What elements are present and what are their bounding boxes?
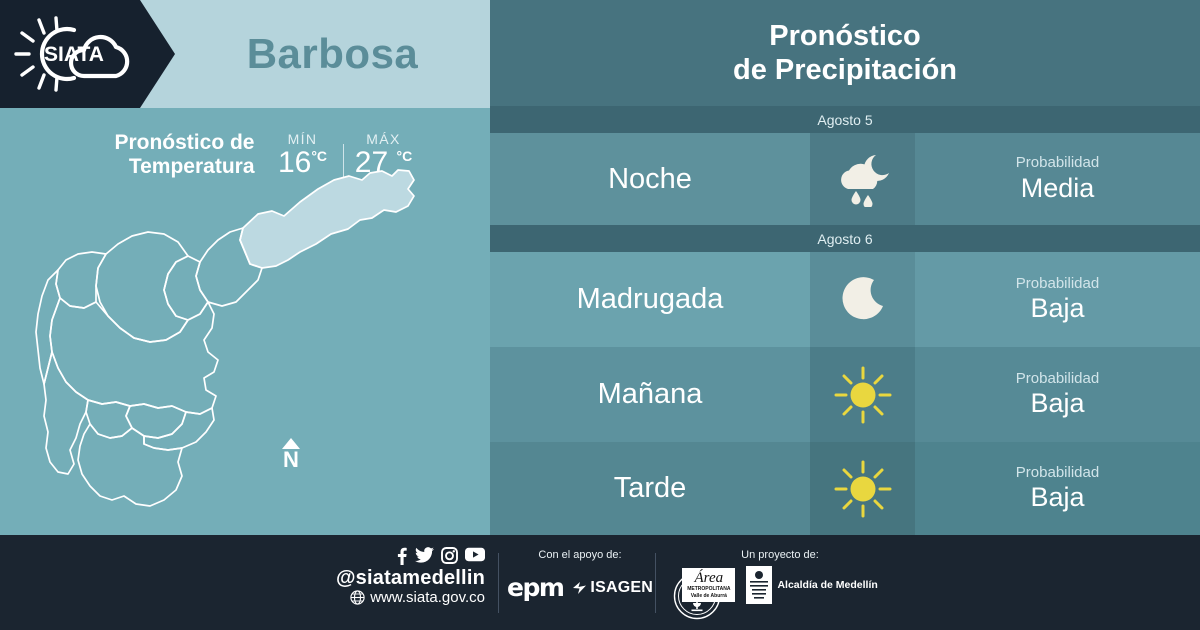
forecast-probability-noche: Probabilidad Media bbox=[915, 133, 1200, 225]
support-logos: epm ISAGEN bbox=[505, 573, 655, 602]
probability-value-tarde: Baja bbox=[1030, 482, 1084, 513]
forecast-title-line2: de Precipitación bbox=[733, 53, 957, 87]
area-logo-sub1: METROPOLITANA bbox=[687, 587, 730, 593]
globe-icon bbox=[350, 590, 365, 605]
alcaldia-label: Alcaldía de Medellín bbox=[777, 579, 877, 591]
moon-cloud-rain-icon bbox=[832, 151, 894, 207]
area-logo-main: Área bbox=[687, 571, 730, 586]
project-caption: Un proyecto de: bbox=[665, 549, 895, 561]
date-band-agosto-6: Agosto 6 bbox=[490, 225, 1200, 252]
map-region-northwest-edge bbox=[56, 252, 106, 308]
map-region-sabaneta bbox=[144, 408, 214, 450]
probability-caption: Probabilidad bbox=[1016, 370, 1099, 389]
forecast-period-manana: Mañana bbox=[490, 347, 810, 442]
siata-logo-text: SIATA bbox=[44, 43, 104, 66]
area-logo-sub2: Valle de Aburrá bbox=[687, 594, 730, 600]
forecast-probability-madrugada: Probabilidad Baja bbox=[915, 252, 1200, 347]
sun-cloud-icon: SIATA bbox=[12, 14, 130, 94]
map-region-itagui bbox=[86, 400, 132, 438]
isagen-logo: ISAGEN bbox=[572, 579, 653, 597]
probability-value-noche: Media bbox=[1021, 173, 1095, 204]
page-title: Barbosa bbox=[175, 0, 490, 108]
support-caption: Con el apoyo de: bbox=[505, 549, 655, 561]
footer: @siatamedellin www.siata.gov.co Con el a… bbox=[0, 535, 1200, 630]
forecast-icon-cell-noche bbox=[810, 133, 915, 225]
weather-forecast-infographic: Barbosa SIATA Pronóst bbox=[0, 0, 1200, 630]
temperature-min-label: MÍN bbox=[269, 131, 337, 147]
instagram-icon[interactable] bbox=[441, 547, 458, 564]
forecast-title: Pronóstico de Precipitación bbox=[490, 0, 1200, 106]
probability-caption: Probabilidad bbox=[1016, 154, 1099, 173]
forecast-icon-cell-manana bbox=[810, 347, 915, 442]
social-handle[interactable]: @siatamedellin bbox=[300, 567, 485, 589]
moon-icon bbox=[838, 275, 888, 325]
probability-value-madrugada: Baja bbox=[1030, 293, 1084, 324]
epm-logo: epm bbox=[507, 573, 563, 602]
social-block: @siatamedellin www.siata.gov.co bbox=[300, 547, 485, 606]
website-link[interactable]: www.siata.gov.co bbox=[300, 589, 485, 606]
forecast-row-manana[interactable]: Mañana Probabili bbox=[490, 347, 1200, 442]
date-band-agosto-5: Agosto 5 bbox=[490, 106, 1200, 133]
facebook-icon[interactable] bbox=[395, 547, 408, 565]
forecast-icon-cell-madrugada bbox=[810, 252, 915, 347]
alcaldia-de-medellin-logo: Alcaldía de Medellín bbox=[746, 566, 877, 604]
forecast-probability-tarde: Probabilidad Baja bbox=[915, 442, 1200, 535]
area-metropolitana-logo: Área METROPOLITANA Valle de Aburrá bbox=[682, 568, 735, 603]
forecast-probability-manana: Probabilidad Baja bbox=[915, 347, 1200, 442]
left-panel: Barbosa SIATA Pronóst bbox=[0, 0, 490, 535]
probability-caption: Probabilidad bbox=[1016, 464, 1099, 483]
forecast-period-madrugada: Madrugada bbox=[490, 252, 810, 347]
map-region-bello bbox=[96, 232, 188, 342]
map-region-medellin bbox=[50, 298, 218, 414]
forecast-period-noche: Noche bbox=[490, 133, 810, 225]
aburra-valley-map bbox=[0, 156, 490, 535]
footer-divider-2 bbox=[655, 553, 656, 613]
sun-icon bbox=[833, 365, 893, 425]
map-region-envigado bbox=[126, 404, 186, 438]
sun-icon bbox=[833, 459, 893, 519]
probability-value-manana: Baja bbox=[1030, 388, 1084, 419]
forecast-row-noche[interactable]: Noche Probabilidad Media bbox=[490, 133, 1200, 225]
forecast-row-madrugada[interactable]: Madrugada Probabilidad Baja bbox=[490, 252, 1200, 347]
social-icons bbox=[300, 547, 485, 565]
compass-rose: N bbox=[278, 438, 304, 471]
probability-caption: Probabilidad bbox=[1016, 275, 1099, 294]
project-logos: Área METROPOLITANA Valle de Aburrá bbox=[665, 566, 895, 604]
isagen-mark-icon bbox=[572, 581, 587, 595]
map-region-southwest-edge bbox=[44, 352, 88, 474]
compass-north-label: N bbox=[278, 450, 304, 471]
youtube-icon[interactable] bbox=[465, 547, 485, 562]
temperature-max-label: MÁX bbox=[350, 131, 418, 147]
medellin-shield-icon bbox=[746, 566, 772, 604]
isagen-logo-text: ISAGEN bbox=[590, 579, 653, 597]
twitter-icon[interactable] bbox=[415, 547, 434, 563]
forecast-row-tarde[interactable]: Tarde Probabilid bbox=[490, 442, 1200, 535]
siata-logo-badge: SIATA bbox=[0, 0, 175, 108]
map-region-barbosa bbox=[240, 170, 414, 268]
map-region-north-edge bbox=[36, 270, 60, 384]
forecast-panel: Pronóstico de Precipitación Agosto 5 Noc… bbox=[490, 0, 1200, 535]
support-block: Con el apoyo de: epm ISAGEN bbox=[505, 549, 655, 602]
forecast-title-line1: Pronóstico bbox=[769, 19, 920, 53]
forecast-period-tarde: Tarde bbox=[490, 442, 810, 535]
website-url: www.siata.gov.co bbox=[370, 589, 485, 606]
temperature-title-line1: Pronóstico de bbox=[114, 131, 254, 154]
map-panel: Pronóstico de Temperatura MÍN 16°C MÁX 2… bbox=[0, 108, 490, 535]
footer-divider-1 bbox=[498, 553, 499, 613]
project-block: Un proyecto de: Área METROPOLITANA Valle… bbox=[665, 549, 895, 604]
forecast-icon-cell-tarde bbox=[810, 442, 915, 535]
